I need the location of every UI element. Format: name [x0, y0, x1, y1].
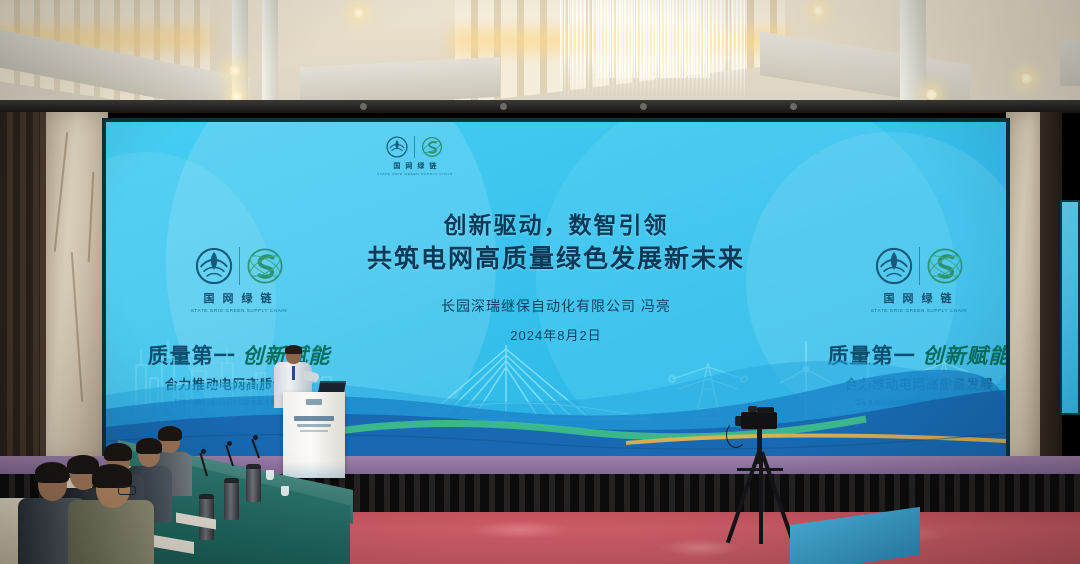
podium-subline: [297, 424, 331, 427]
slide-title-line1: 创新驱动，数智引领: [106, 206, 1006, 240]
conference-hall-photo: 国网绿链 STATE GRID GREEN SUPPLY CHAIN 创新驱动，…: [0, 0, 1080, 564]
thermos-cap-3: [246, 464, 261, 469]
camera-viewfinder: [748, 406, 757, 412]
logo-cn-text: 国网绿链: [204, 290, 275, 306]
wall-recess-right: [1040, 112, 1062, 462]
led-screen-frame: 国网绿链 STATE GRID GREEN SUPPLY CHAIN 创新驱动，…: [102, 118, 1010, 462]
thermos-2: [224, 482, 239, 520]
logo-lockup-right: 国网绿链 STATE GRID GREEN SUPPLY CHAIN: [858, 247, 980, 313]
state-grid-emblem-icon: [875, 247, 913, 285]
ceiling-beam-b: [262, 0, 278, 104]
state-grid-emblem-icon: [195, 247, 233, 285]
podium-logo: [306, 399, 322, 405]
thermos-3: [246, 468, 261, 502]
tripod-leg-center: [759, 452, 763, 544]
marble-pillar-left: [46, 112, 108, 462]
green-s-globe-icon: [421, 136, 443, 158]
video-camera: [741, 412, 777, 429]
logo-en-text: STATE GRID GREEN SUPPLY CHAIN: [377, 172, 453, 176]
recessed-downlight-5: [352, 6, 365, 19]
ceiling-beam-a: [232, 0, 248, 104]
speaker-hair: [285, 345, 302, 354]
speaker-podium: [283, 392, 345, 478]
recessed-downlight-3: [1020, 72, 1033, 85]
green-s-globe-icon: [926, 247, 964, 285]
microphone-head-3: [253, 435, 258, 440]
microphone-head-2: [227, 441, 232, 446]
microphone-head-1: [201, 449, 206, 454]
logo-en-text: STATE GRID GREEN SUPPLY CHAIN: [191, 308, 287, 313]
eyeglasses: [118, 486, 136, 495]
water-cup-1: [266, 470, 274, 480]
thermos-cap-2: [224, 478, 239, 483]
logo-cn-text: 国网绿链: [393, 161, 436, 171]
podium-slogan: [294, 416, 334, 421]
podium-wave-graphic: [283, 462, 345, 478]
ceiling-truss: [0, 100, 1080, 113]
tripod-spreader: [737, 468, 783, 471]
ceiling-soffit-right: [760, 31, 970, 108]
led-screen: 国网绿链 STATE GRID GREEN SUPPLY CHAIN 创新驱动，…: [106, 122, 1006, 458]
window-drape: [0, 112, 40, 462]
podium-footline: [300, 430, 328, 432]
logo-cn-text: 国网绿链: [884, 290, 955, 306]
state-grid-emblem-icon: [386, 136, 408, 158]
wall-left: [0, 112, 108, 462]
ceiling-soffit-faright: [1060, 40, 1080, 86]
ceiling: [0, 0, 1080, 112]
led-panel-far-right: [1060, 200, 1080, 415]
green-s-globe-icon: [246, 247, 284, 285]
recessed-downlight-6: [812, 4, 825, 17]
recessed-downlight-1: [228, 64, 241, 77]
chandelier-core: [598, 0, 710, 78]
energy-illustration: [106, 323, 1006, 458]
logo-lockup-left: 国网绿链 STATE GRID GREEN SUPPLY CHAIN: [178, 247, 300, 313]
ceiling-beam-c: [900, 0, 926, 104]
speaker-lanyard: [292, 366, 295, 380]
logo-en-text: STATE GRID GREEN SUPPLY CHAIN: [871, 308, 967, 313]
camera-handle: [757, 407, 774, 413]
marble-pillar-right: [1006, 112, 1040, 462]
water-cup-2: [281, 486, 289, 496]
logo-lockup-top: 国网绿链 STATE GRID GREEN SUPPLY CHAIN: [377, 136, 453, 176]
thermos-cap-1: [199, 494, 214, 499]
